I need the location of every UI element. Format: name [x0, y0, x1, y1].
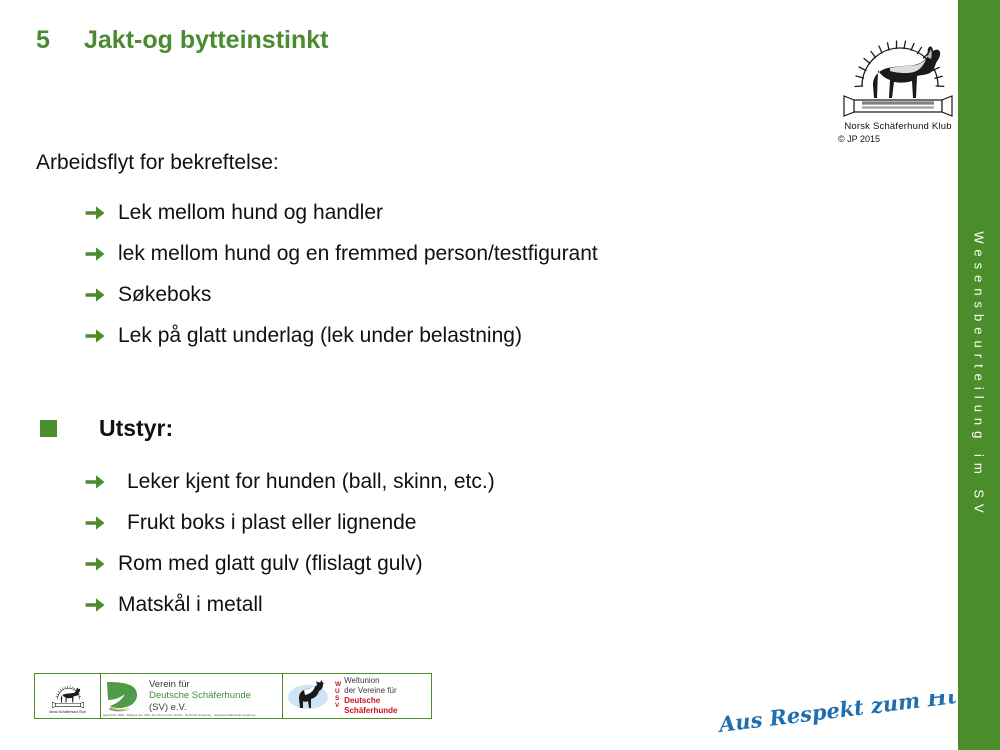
list-item: Lek på glatt underlag (lek under belastn… — [0, 315, 598, 356]
sv-leaf-icon — [103, 678, 143, 714]
footer-nsk-caption: Norsk Schäferhund Klub — [49, 710, 86, 714]
arrow-right-icon — [84, 326, 106, 346]
list-item-label: Søkeboks — [118, 283, 211, 307]
list-item-label: Matskål i metall — [118, 593, 263, 617]
page-title: 5 Jakt-og bytteinstinkt — [36, 26, 328, 55]
footer-wusv-logo: W U S V Weltunion der Vereine für Deutsc… — [283, 674, 431, 718]
list-item-label: Rom med glatt gulv (flislagt gulv) — [118, 552, 423, 576]
wusv-logo-text: Weltunion der Vereine für Deutsche Schäf… — [344, 676, 431, 716]
german-shepherd-crest-icon — [832, 16, 964, 120]
list-item-label: lek mellom hund og en fremmed person/tes… — [118, 242, 598, 266]
tagline-handwriting: Aus Respekt zum Hund. — [716, 694, 956, 742]
wusv-line-1: Weltunion — [344, 676, 431, 686]
list-item: Rom med glatt gulv (flislagt gulv) — [0, 543, 495, 584]
list-item: Søkeboks — [0, 274, 598, 315]
german-shepherd-crest-icon — [40, 679, 96, 709]
wusv-letter: V — [335, 703, 341, 710]
arrow-right-icon — [84, 513, 106, 533]
list-item-label: Lek mellom hund og handler — [118, 201, 383, 225]
sidebar-label: Wesensbeurteilung im SV — [972, 231, 987, 518]
list-item: Matskål i metall — [0, 584, 495, 625]
list-item-label: Leker kjent for hunden (ball, skinn, etc… — [118, 470, 495, 494]
workflow-list: Lek mellom hund og handler lek mellom hu… — [0, 192, 598, 356]
list-item: Frukt boks i plast eller lignende — [0, 502, 495, 543]
list-item-label: Lek på glatt underlag (lek under belastn… — [118, 324, 522, 348]
arrow-right-icon — [84, 554, 106, 574]
sidebar-green-bar: Wesensbeurteilung im SV — [958, 0, 1000, 750]
equipment-heading-label: Utstyr: — [99, 415, 173, 442]
wusv-line-2: der Vereine für — [344, 686, 431, 696]
sv-logo-text: Verein für Deutsche Schäferhunde (SV) e.… — [149, 679, 251, 714]
nsk-logo-caption: Norsk Schäferhund Klub — [832, 121, 964, 132]
sv-fineprint: gegründet 1899 · Mitglied des VDH, der F… — [103, 713, 255, 717]
arrow-right-icon — [84, 595, 106, 615]
equipment-list: Leker kjent for hunden (ball, skinn, etc… — [0, 461, 495, 625]
sv-line-3: (SV) e.V. — [149, 702, 251, 714]
list-item: Leker kjent for hunden (ball, skinn, etc… — [0, 461, 495, 502]
arrow-right-icon — [84, 285, 106, 305]
arrow-right-icon — [84, 472, 106, 492]
footer-nsk-logo: Norsk Schäferhund Klub — [35, 674, 101, 718]
title-text: Jakt-og bytteinstinkt — [84, 26, 328, 55]
equipment-heading: Utstyr: — [40, 415, 173, 442]
slide-canvas: 5 Jakt-og bytteinstinkt — [0, 0, 1000, 750]
square-bullet-icon — [40, 420, 57, 437]
wusv-line-3: Deutsche Schäferhunde — [344, 696, 431, 716]
footer-sv-logo: Verein für Deutsche Schäferhunde (SV) e.… — [101, 674, 283, 718]
copyright-text: © JP 2015 — [832, 134, 964, 144]
list-item: lek mellom hund og en fremmed person/tes… — [0, 233, 598, 274]
tagline-text: Aus Respekt zum Hund. — [716, 694, 956, 737]
wusv-letters: W U S V — [335, 682, 341, 709]
title-number: 5 — [36, 26, 84, 55]
list-item: Lek mellom hund og handler — [0, 192, 598, 233]
arrow-right-icon — [84, 244, 106, 264]
footer-logo-strip: Norsk Schäferhund Klub Verein für Deutsc… — [34, 673, 432, 719]
arrow-right-icon — [84, 203, 106, 223]
intro-text: Arbeidsflyt for bekreftelse: — [36, 151, 279, 175]
list-item-label: Frukt boks i plast eller lignende — [118, 511, 416, 535]
sv-line-2: Deutsche Schäferhunde — [149, 690, 251, 702]
sv-line-1: Verein für — [149, 679, 251, 691]
wusv-dog-globe-icon — [286, 678, 334, 714]
nsk-logo: Norsk Schäferhund Klub © JP 2015 — [832, 16, 964, 144]
